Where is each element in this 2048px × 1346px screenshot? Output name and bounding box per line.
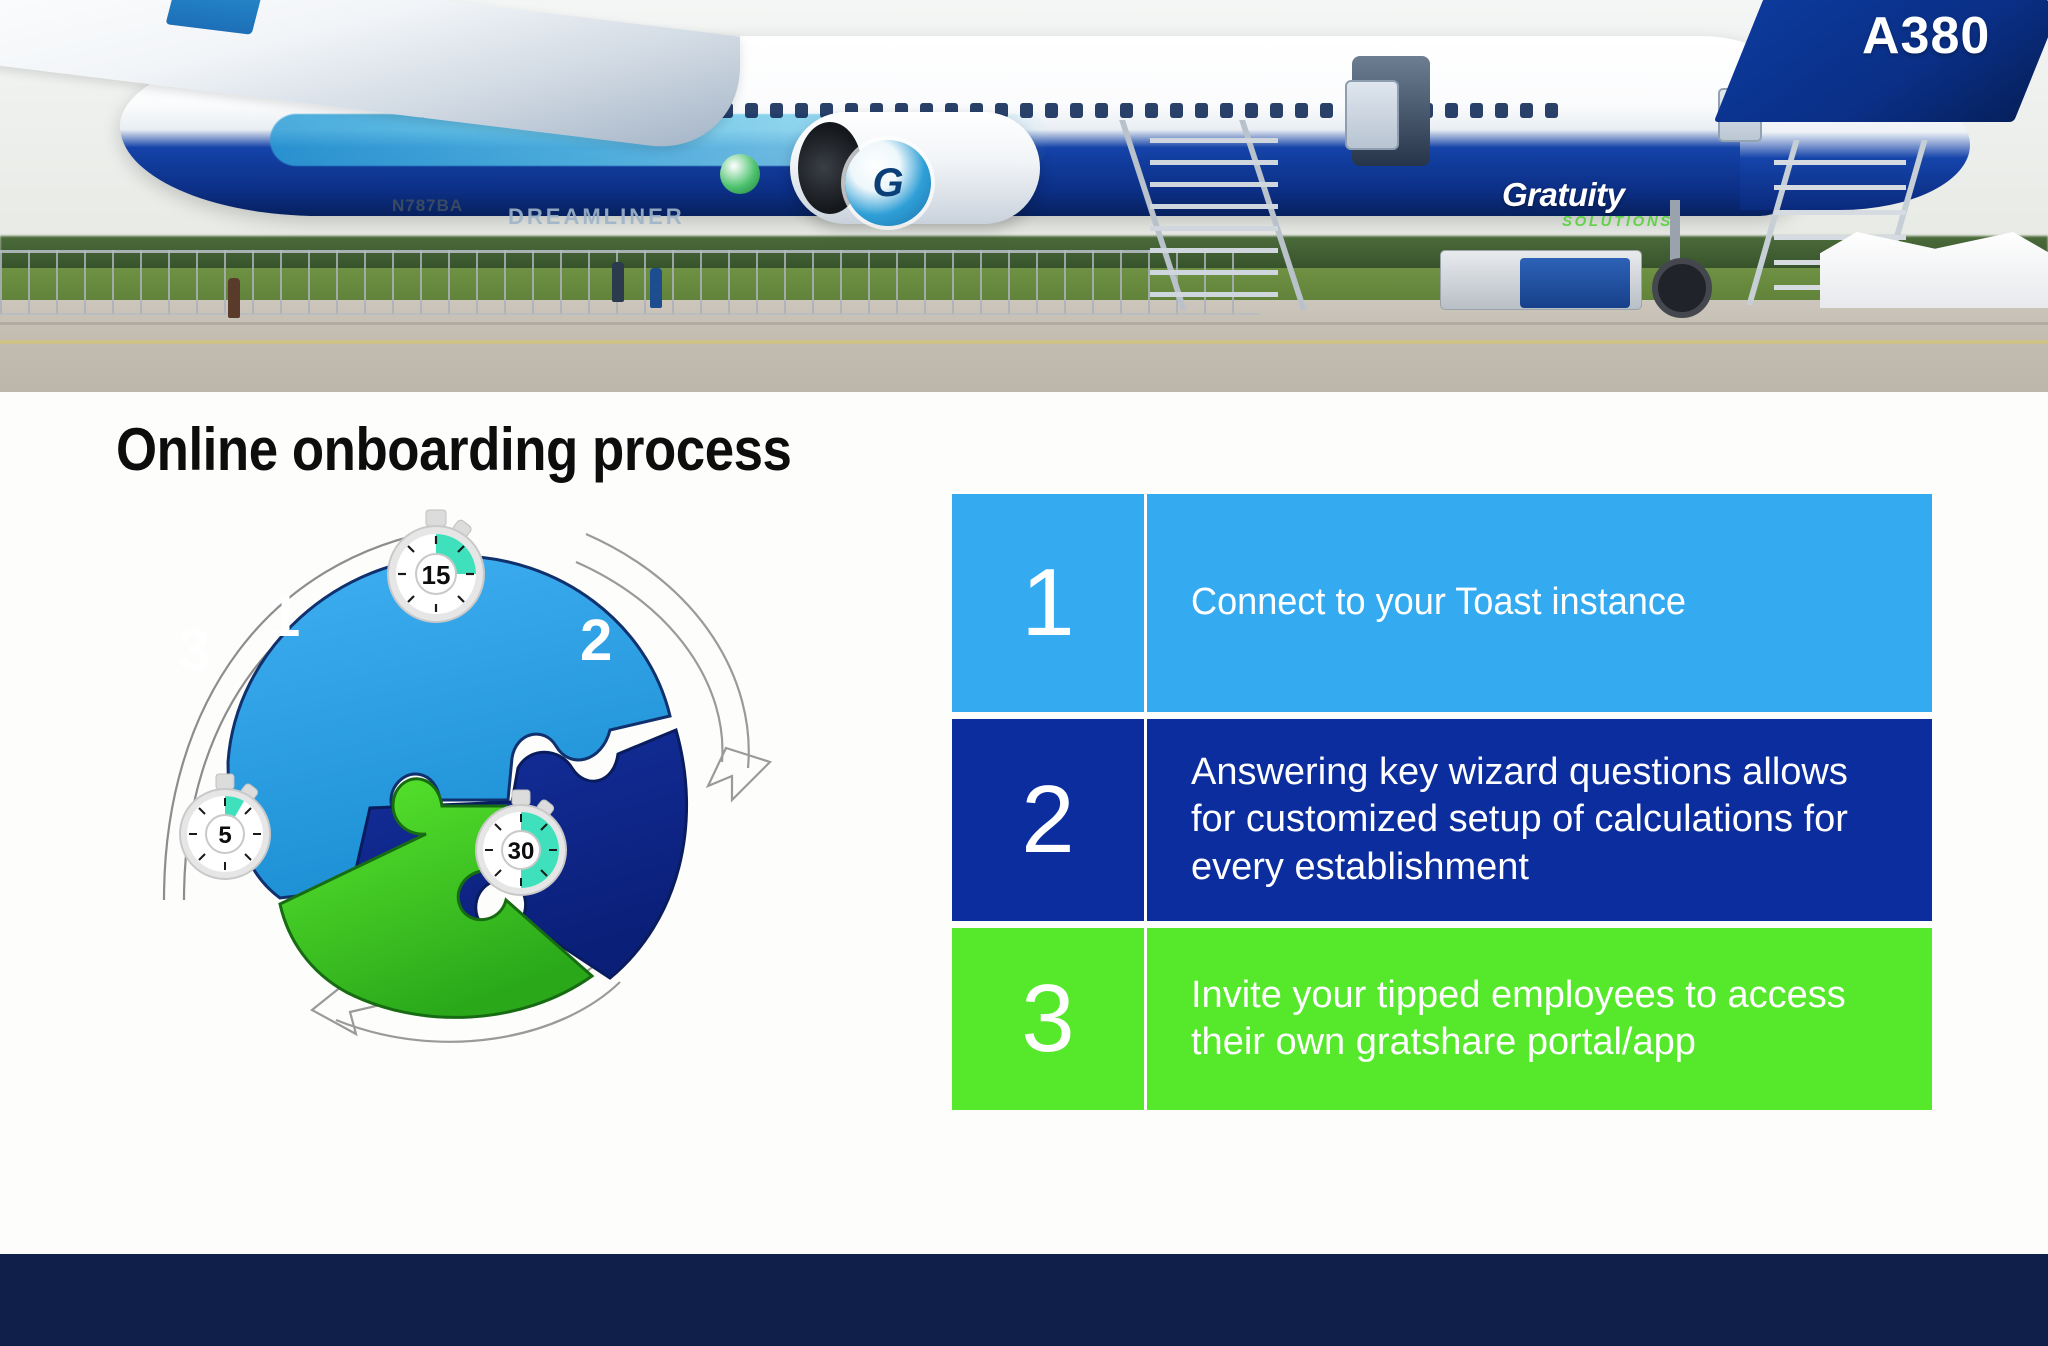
ground-crew-person	[650, 268, 662, 308]
service-vehicle-blue	[1520, 258, 1630, 308]
step-number: 1	[1021, 555, 1074, 651]
hero-photo: N787BA DREAMLINER Gratuity SOLUTIONS ZA0…	[0, 0, 2048, 392]
page-title: Online onboarding process	[116, 415, 791, 484]
ground-crew-person	[612, 262, 624, 302]
table-row[interactable]: 1 Connect to your Toast instance	[952, 494, 1932, 712]
aircraft-registration: N787BA	[392, 196, 463, 216]
step-description: Invite your tipped employees to access t…	[1191, 972, 1902, 1066]
stopwatch-30-value: 30	[508, 838, 535, 865]
circular-puzzle-diagram: 1 2 3 15	[140, 500, 780, 1080]
step-number: 2	[1021, 772, 1074, 868]
stopwatch-5-value: 5	[218, 822, 231, 849]
engine-gs-logo-icon: G	[845, 140, 931, 226]
tail-logo-small	[720, 154, 760, 194]
dreamliner-text: DREAMLINER	[508, 204, 685, 230]
step-description: Answering key wizard questions allows fo…	[1191, 749, 1902, 890]
engine-logo-letter: G	[845, 140, 931, 226]
puzzle-label-1: 1	[268, 584, 300, 649]
table-row[interactable]: 2 Answering key wizard questions allows …	[952, 719, 1932, 921]
landing-gear	[1640, 200, 1710, 308]
winglet	[166, 0, 273, 35]
step-number-cell: 2	[952, 719, 1147, 921]
boarding-stairs	[1150, 120, 1310, 310]
step-text-cell: Answering key wizard questions allows fo…	[1147, 719, 1932, 921]
step-number-cell: 3	[952, 928, 1147, 1110]
slide-root: N787BA DREAMLINER Gratuity SOLUTIONS ZA0…	[0, 0, 2048, 1346]
puzzle-svg: 1 2 3 15	[140, 500, 780, 1080]
table-row[interactable]: 3 Invite your tipped employees to access…	[952, 928, 1932, 1110]
stopwatch-5-icon: 5	[180, 774, 270, 879]
step-description: Connect to your Toast instance	[1191, 579, 1686, 626]
step-text-cell: Connect to your Toast instance	[1147, 494, 1932, 712]
footer-bar	[0, 1254, 2048, 1346]
step-number-cell: 1	[952, 494, 1147, 712]
step-number: 3	[1021, 971, 1074, 1067]
step-text-cell: Invite your tipped employees to access t…	[1147, 928, 1932, 1110]
puzzle-label-2: 2	[580, 608, 612, 673]
stopwatch-15-icon: 15	[388, 510, 484, 622]
airport-fence	[0, 250, 1260, 315]
stopwatch-15-value: 15	[422, 560, 451, 590]
tarmac-seam	[0, 322, 2048, 325]
puzzle-label-3: 3	[178, 618, 210, 683]
ground-crew-person	[228, 278, 240, 318]
aircraft-door	[1345, 80, 1399, 150]
onboarding-steps-table: 1 Connect to your Toast instance 2 Answe…	[952, 494, 1932, 1117]
a380-text: A380	[1862, 6, 1990, 66]
